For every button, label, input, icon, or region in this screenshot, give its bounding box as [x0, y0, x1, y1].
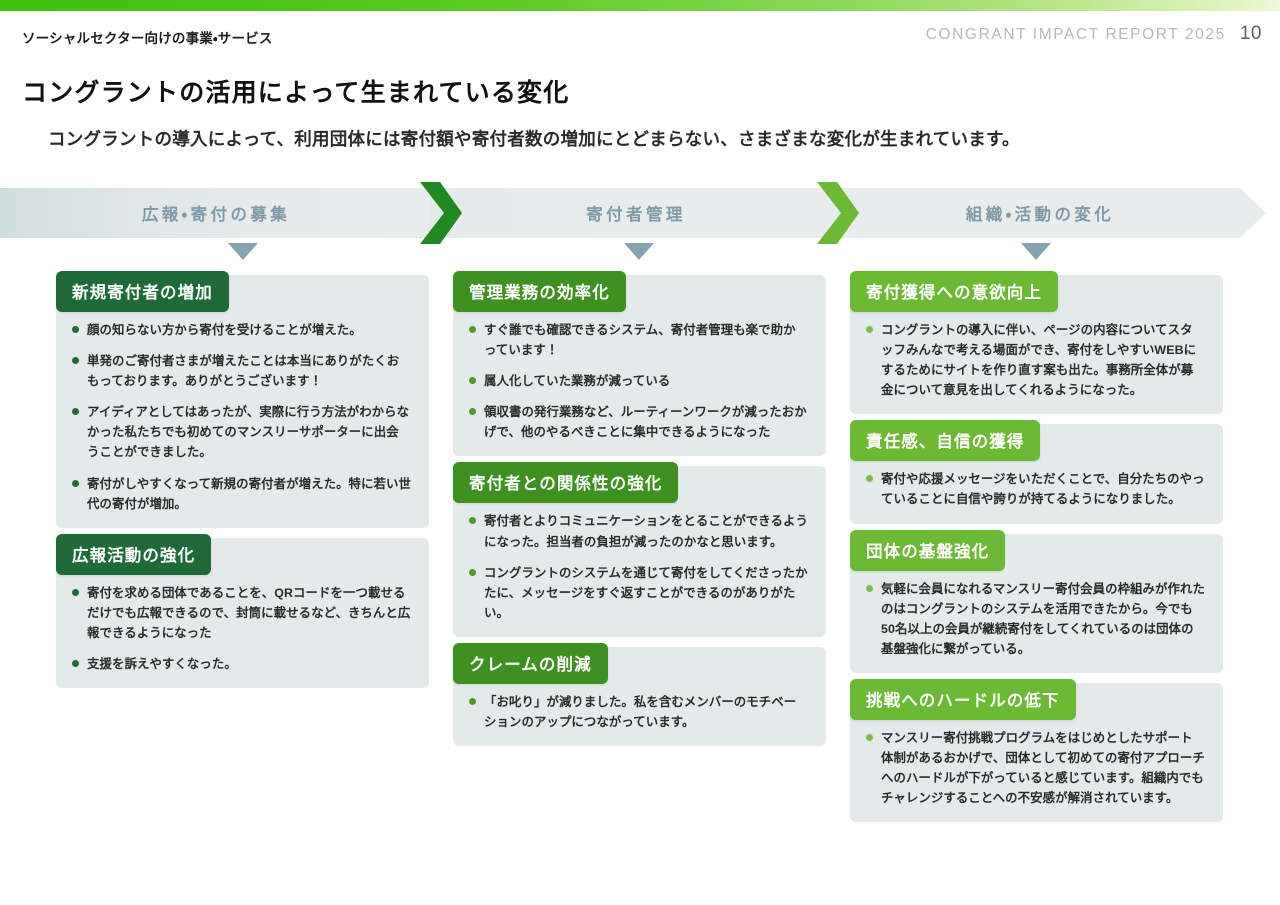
bullet-list: 寄付者とよりコミュニケーションをとることができるようになった。担当者の負担が減っ… [453, 511, 826, 622]
chevron-right-icon-1 [418, 180, 464, 246]
chevron-right-icon-2 [815, 180, 861, 246]
header-eyebrow: ソーシャルセクター向けの事業・サービス [22, 27, 273, 47]
card: 広報活動の強化 寄付を求める団体であることを、QRコードを一つ載せるだけでも広報… [56, 538, 429, 688]
list-item: 「お叱り」が減りました。私を含むメンバーのモチベーションのアップにつながっていま… [469, 692, 808, 732]
card: クレームの削減 「お叱り」が減りました。私を含むメンバーのモチベーションのアップ… [453, 647, 826, 746]
card-title: 責任感、自信の獲得 [850, 420, 1040, 461]
list-item: 領収書の発行業務など、ルーティーンワークが減ったおかげで、他のやるべきことに集中… [469, 402, 808, 442]
list-item: 顔の知らない方から寄付を受けることが増えた。 [72, 320, 411, 340]
bullet-list: 寄付や応援メッセージをいただくことで、自分たちのやっていることに自信や誇りが持て… [850, 469, 1223, 509]
bullet-list: 気軽に会員になれるマンスリー寄付会員の枠組みが作れたのはコングラントのシステムを… [850, 579, 1223, 659]
list-item: 支援を訴えやすくなった。 [72, 654, 411, 674]
card: 団体の基盤強化 気軽に会員になれるマンスリー寄付会員の枠組みが作れたのはコングラ… [850, 534, 1223, 673]
top-accent-bar [0, 0, 1280, 11]
column-2: 管理業務の効率化 すぐ誰でも確認できるシステム、寄付者管理も楽で助かっています！… [453, 275, 826, 756]
triangle-down-icon-1 [228, 243, 258, 260]
card: 責任感、自信の獲得 寄付や応援メッセージをいただくことで、自分たちのやっているこ… [850, 424, 1223, 523]
card-title: 広報活動の強化 [56, 534, 211, 575]
list-item: 寄付者とよりコミュニケーションをとることができるようになった。担当者の負担が減っ… [469, 511, 808, 551]
card: 新規寄付者の増加 顔の知らない方から寄付を受けることが増えた。 単発のご寄付者さ… [56, 275, 429, 528]
list-item: 単発のご寄付者さまが増えたことは本当にありがたくおもっております。ありがとうござ… [72, 351, 411, 391]
list-item: コングラントのシステムを通じて寄付をしてくださったかたに、メッセージをすぐ返すこ… [469, 563, 808, 623]
stage-banner: 広報・寄付の募集 寄付者管理 組織・活動の変化 [0, 188, 1280, 238]
page-title: コングラントの活用によって生まれている変化 [22, 73, 569, 109]
card-title: 団体の基盤強化 [850, 530, 1005, 571]
list-item: 気軽に会員になれるマンスリー寄付会員の枠組みが作れたのはコングラントのシステムを… [866, 579, 1205, 659]
list-item: 寄付や応援メッセージをいただくことで、自分たちのやっていることに自信や誇りが持て… [866, 469, 1205, 509]
stage-label-2: 寄付者管理 [586, 201, 686, 225]
list-item: 寄付がしやすくなって新規の寄付者が増えた。特に若い世代の寄付が増加。 [72, 474, 411, 514]
bullet-list: 寄付を求める団体であることを、QRコードを一つ載せるだけでも広報できるので、封筒… [56, 583, 429, 674]
page-header: ソーシャルセクター向けの事業・サービス CONGRANT IMPACT REPO… [0, 11, 1280, 107]
list-item: 属人化していた業務が減っている [469, 371, 808, 391]
page-number: 10 [1240, 23, 1262, 45]
card-title: 新規寄付者の増加 [56, 271, 229, 312]
list-item: すぐ誰でも確認できるシステム、寄付者管理も楽で助かっています！ [469, 320, 808, 360]
bullet-list: マンスリー寄付挑戦プログラムをはじめとしたサポート体制があるおかげで、団体として… [850, 728, 1223, 808]
card-title: 寄付者との関係性の強化 [453, 462, 678, 503]
column-1: 新規寄付者の増加 顔の知らない方から寄付を受けることが増えた。 単発のご寄付者さ… [56, 275, 429, 698]
lead-paragraph: コングラントの導入によって、利用団体には寄付額や寄付者数の増加にとどまらない、さ… [48, 126, 1238, 151]
card-title: 挑戦へのハードルの低下 [850, 679, 1076, 720]
triangle-down-icon-3 [1021, 243, 1051, 260]
stage-segment-2: 寄付者管理 [430, 188, 842, 238]
bullet-list: 顔の知らない方から寄付を受けることが増えた。 単発のご寄付者さまが増えたことは本… [56, 320, 429, 514]
stage-label-3: 組織・活動の変化 [966, 201, 1114, 225]
stage-segment-3: 組織・活動の変化 [840, 188, 1240, 238]
stage-label-1: 広報・寄付の募集 [142, 201, 290, 225]
list-item: 寄付を求める団体であることを、QRコードを一つ載せるだけでも広報できるので、封筒… [72, 583, 411, 643]
triangle-down-icon-2 [624, 243, 654, 260]
card-title: 寄付獲得への意欲向上 [850, 271, 1058, 312]
list-item: コングラントの導入に伴い、ページの内容についてスタッフみんなで考える場面ができ、… [866, 320, 1205, 400]
card: 管理業務の効率化 すぐ誰でも確認できるシステム、寄付者管理も楽で助かっています！… [453, 275, 826, 456]
list-item: アイディアとしてはあったが、実際に行う方法がわからなかった私たちでも初めてのマン… [72, 402, 411, 462]
card: 寄付獲得への意欲向上 コングラントの導入に伴い、ページの内容についてスタッフみん… [850, 275, 1223, 414]
bullet-list: すぐ誰でも確認できるシステム、寄付者管理も楽で助かっています！ 属人化していた業… [453, 320, 826, 442]
report-meta: CONGRANT IMPACT REPORT 2025 10 [926, 23, 1262, 45]
bullet-list: 「お叱り」が減りました。私を含むメンバーのモチベーションのアップにつながっていま… [453, 692, 826, 732]
report-label: CONGRANT IMPACT REPORT 2025 [926, 26, 1226, 44]
card-title: 管理業務の効率化 [453, 271, 626, 312]
card: 寄付者との関係性の強化 寄付者とよりコミュニケーションをとることができるようにな… [453, 466, 826, 636]
column-3: 寄付獲得への意欲向上 コングラントの導入に伴い、ページの内容についてスタッフみん… [850, 275, 1223, 832]
stage-segment-1: 広報・寄付の募集 [0, 188, 432, 238]
card-title: クレームの削減 [453, 643, 608, 684]
card: 挑戦へのハードルの低下 マンスリー寄付挑戦プログラムをはじめとしたサポート体制が… [850, 683, 1223, 822]
bullet-list: コングラントの導入に伴い、ページの内容についてスタッフみんなで考える場面ができ、… [850, 320, 1223, 400]
list-item: マンスリー寄付挑戦プログラムをはじめとしたサポート体制があるおかげで、団体として… [866, 728, 1205, 808]
